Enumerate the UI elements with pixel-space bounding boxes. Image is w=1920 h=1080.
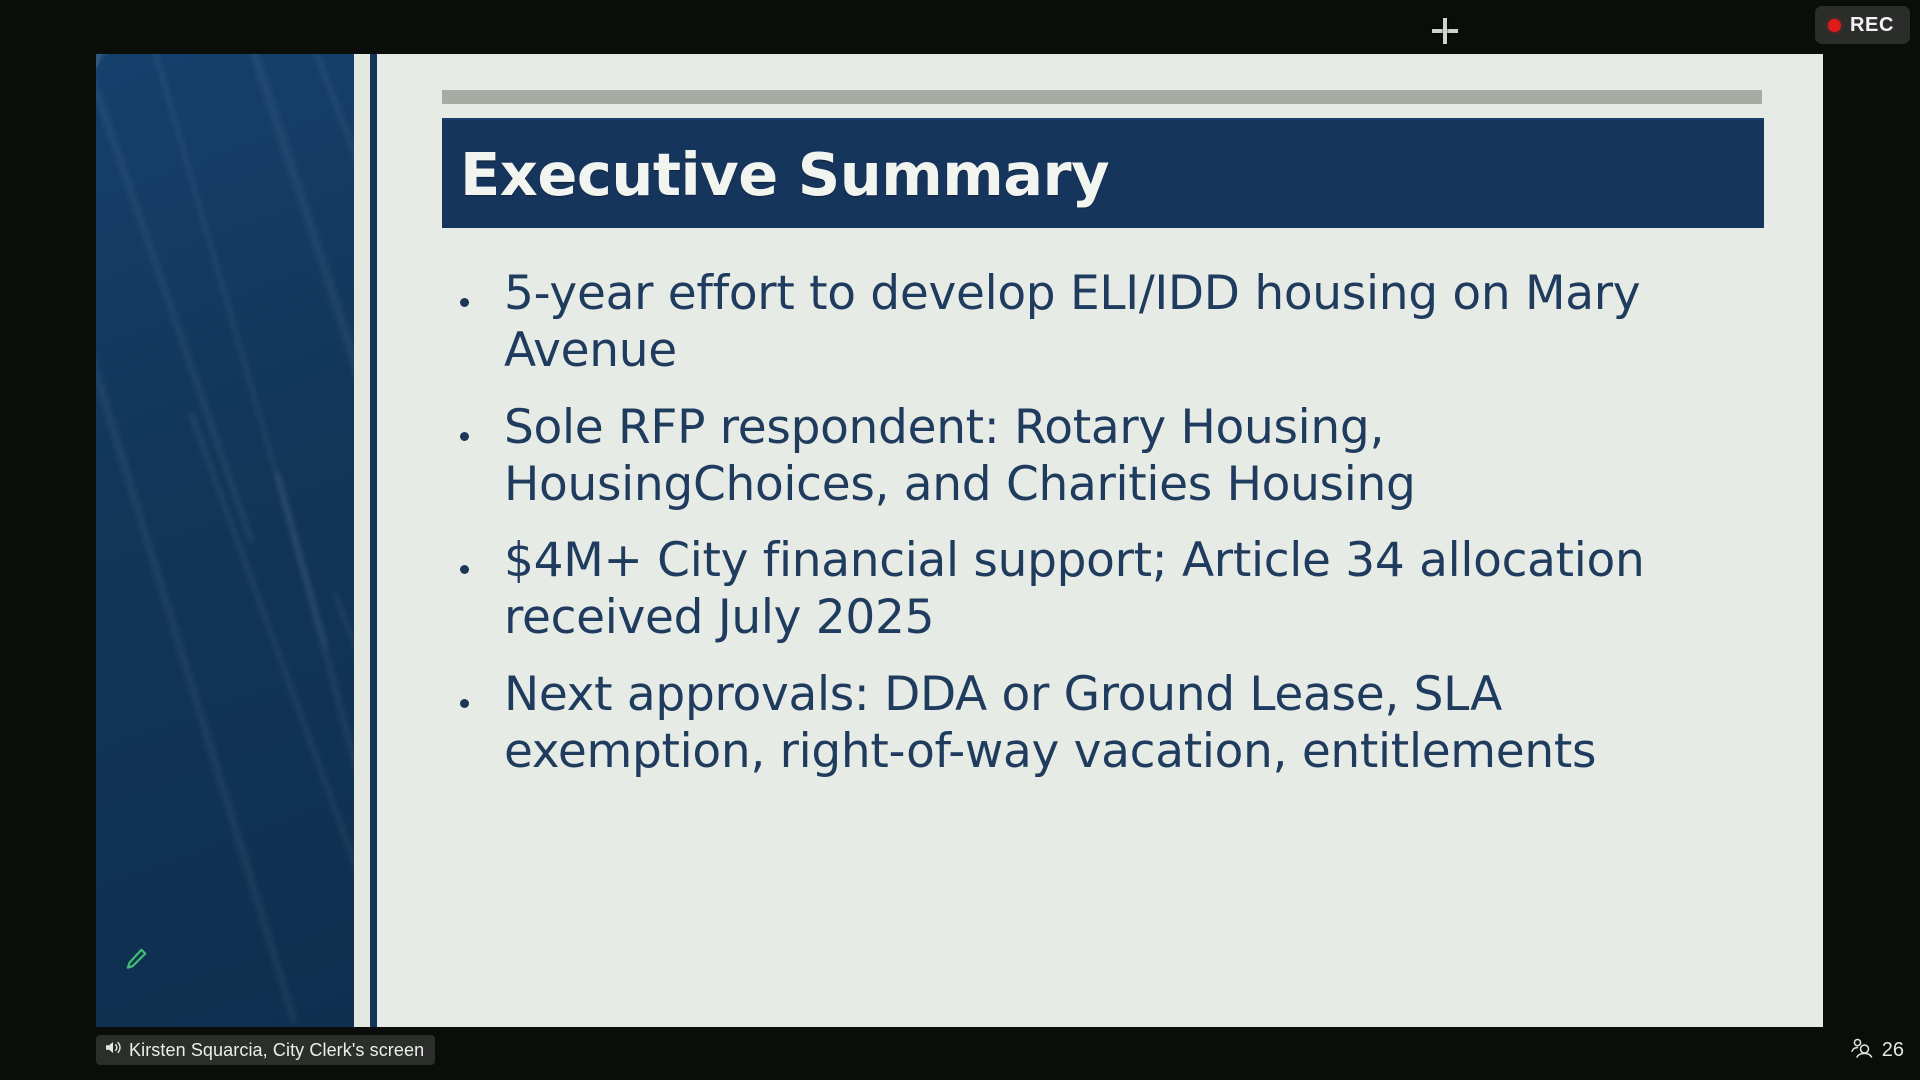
pencil-annotate-icon[interactable] [120, 943, 152, 975]
crosshair-cursor-icon [1432, 18, 1458, 44]
bullet-dot-icon [460, 699, 469, 708]
slide-vertical-divider [370, 54, 377, 1027]
slide-title-banner: Executive Summary [442, 118, 1764, 228]
participants-count: 26 [1882, 1039, 1904, 1062]
slide-panel-gap [354, 54, 370, 1027]
recording-label: REC [1850, 14, 1894, 37]
bullet-text: Next approvals: DDA or Ground Lease, SLA… [504, 667, 1772, 781]
bullet-marker [442, 400, 504, 446]
speaker-volume-icon [105, 1040, 122, 1060]
bullet-marker [442, 667, 504, 713]
bullet-marker [442, 266, 504, 312]
active-speaker-label: Kirsten Squarcia, City Clerk's screen [129, 1040, 424, 1061]
list-item: 5-year effort to develop ELI/IDD housing… [442, 266, 1772, 380]
bullet-text: $4M+ City financial support; Article 34 … [504, 533, 1772, 647]
bullet-dot-icon [460, 432, 469, 441]
title-top-rule [442, 90, 1762, 104]
bullet-dot-icon [460, 298, 469, 307]
zoom-bottom-bar: Kirsten Squarcia, City Clerk's screen 26 [0, 1027, 1920, 1080]
list-item: Next approvals: DDA or Ground Lease, SLA… [442, 667, 1772, 781]
slide-bullet-list: 5-year effort to develop ELI/IDD housing… [442, 266, 1772, 801]
record-dot-icon [1828, 19, 1841, 32]
participants-indicator[interactable]: 26 [1850, 1038, 1904, 1063]
list-item: $4M+ City financial support; Article 34 … [442, 533, 1772, 647]
bullet-dot-icon [460, 565, 469, 574]
zoom-top-bar: REC [0, 0, 1920, 55]
recording-indicator[interactable]: REC [1815, 6, 1910, 44]
shared-slide[interactable]: Executive Summary 5-year effort to devel… [96, 54, 1823, 1027]
page-title: Executive Summary [460, 140, 1109, 209]
bullet-marker [442, 533, 504, 579]
participants-icon [1850, 1038, 1874, 1063]
bullet-text: 5-year effort to develop ELI/IDD housing… [504, 266, 1772, 380]
bullet-text: Sole RFP respondent: Rotary Housing, Hou… [504, 400, 1772, 514]
zoom-screenshare-window: REC Executive Summary [0, 0, 1920, 1080]
list-item: Sole RFP respondent: Rotary Housing, Hou… [442, 400, 1772, 514]
slide-content-area: Executive Summary 5-year effort to devel… [377, 54, 1823, 1027]
slide-decorative-panel [96, 54, 354, 1027]
active-speaker-chip: Kirsten Squarcia, City Clerk's screen [96, 1035, 435, 1065]
